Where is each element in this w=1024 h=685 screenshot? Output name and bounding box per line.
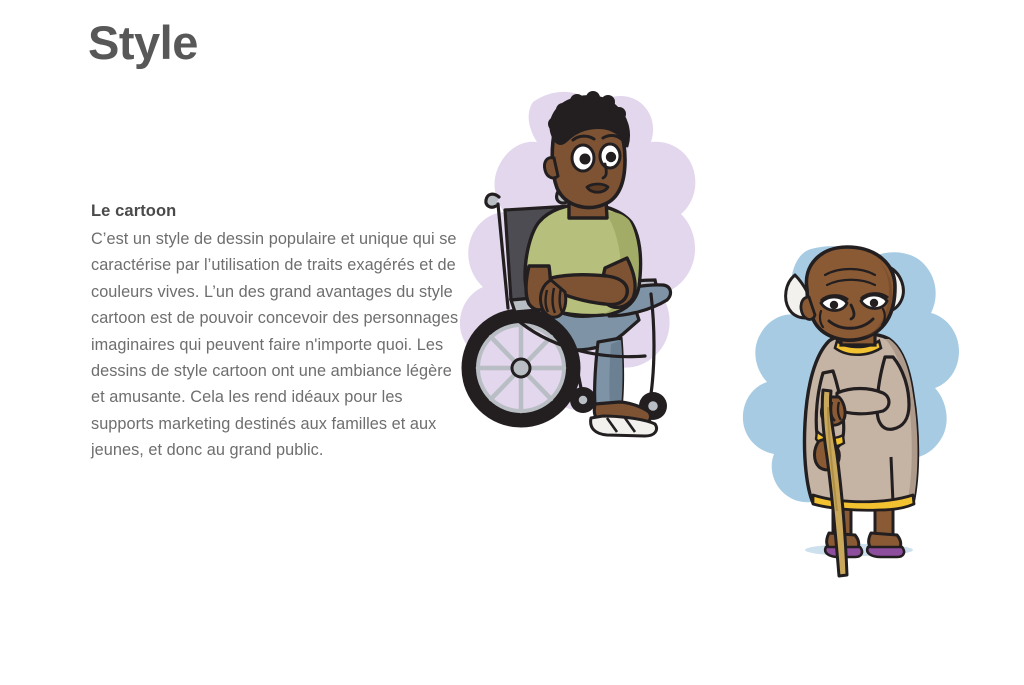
- wheelchair-caster-rear: [570, 387, 596, 413]
- person-trouser-shadow: [609, 340, 622, 407]
- section-heading: Le cartoon: [91, 202, 463, 221]
- page-title: Style: [88, 16, 198, 70]
- person-mouth: [587, 184, 608, 192]
- person-ear: [544, 158, 558, 178]
- body-paragraph: C’est un style de dessin populaire et un…: [91, 226, 463, 464]
- elder-sandal-right: [867, 547, 904, 557]
- elderly-woman-illustration: [733, 245, 978, 600]
- wheelchair-rear-wheel: [463, 310, 579, 426]
- text-column: Le cartoon C’est un style de dessin popu…: [91, 202, 463, 464]
- wheelchair-user-illustration: [455, 88, 725, 458]
- slide-canvas: Style Le cartoon C’est un style de dessi…: [0, 0, 1024, 685]
- robe-slit: [891, 457, 893, 503]
